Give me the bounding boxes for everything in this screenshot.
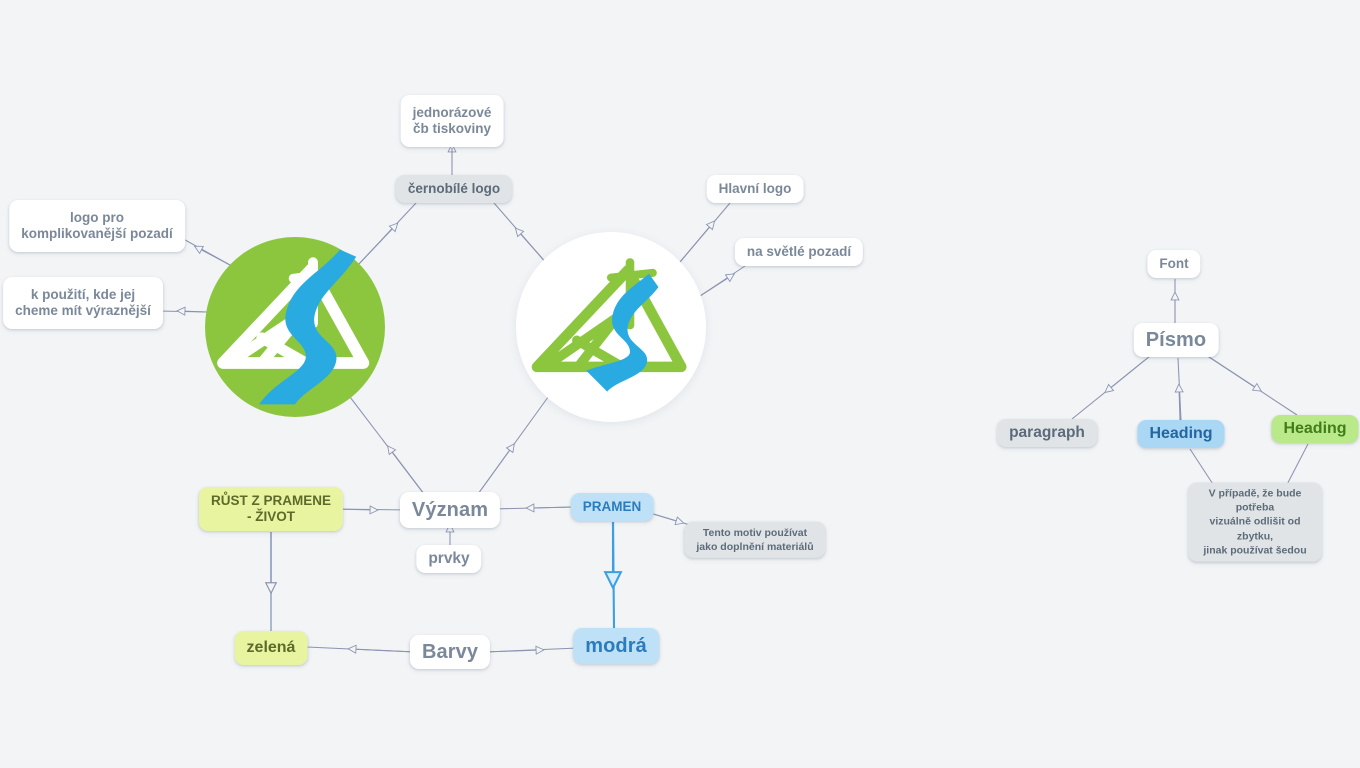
node-prvky[interactable]: prvky	[416, 545, 481, 573]
node-barvy[interactable]: Barvy	[410, 635, 490, 669]
edge-pismo-heading-blue-head	[1179, 388, 1180, 420]
node-zelena[interactable]: zelená	[235, 631, 308, 665]
node-font[interactable]: Font	[1147, 250, 1200, 278]
edge-whitelogo-vyznam-head	[478, 447, 512, 494]
node-tento-motiv-pouzivat[interactable]: Tento motiv používat jako doplnění mater…	[684, 522, 825, 558]
node-hlavni-logo[interactable]: Hlavní logo	[707, 175, 804, 203]
node-paragraph[interactable]: paragraph	[997, 419, 1097, 447]
node-na-svetle-pozadi[interactable]: na světlé pozadí	[735, 238, 863, 266]
edge-pramen-vyznam	[491, 507, 574, 509]
edge-pismo-paragraph-head	[1108, 356, 1150, 390]
node-cernobile-logo[interactable]: černobílé logo	[396, 175, 512, 203]
node-logo-pro-komplikovanejsi-pozadi[interactable]: logo pro komplikovanější pozadí	[9, 200, 185, 252]
logo-mark-green	[205, 237, 385, 417]
node-pismo[interactable]: Písmo	[1134, 323, 1219, 357]
logo-green-circle[interactable]	[205, 237, 385, 417]
node-heading-green[interactable]: Heading	[1271, 415, 1358, 443]
edge-greenlogo-vyznam-head	[390, 449, 424, 494]
edge-greenlogo-kpouziti-head	[181, 311, 207, 312]
node-modra[interactable]: modrá	[573, 628, 659, 664]
logo-white-circle[interactable]	[516, 232, 706, 422]
edge-whitelogo-nasvetle	[700, 266, 745, 296]
edge-barvy-zelena-head	[352, 649, 415, 652]
node-k-pouziti-vyraznejsi[interactable]: k použití, kde jej cheme mít výraznější	[3, 277, 163, 329]
node-rust-z-pramene-zivot[interactable]: RŮST Z PRAMENE - ŽIVOT	[199, 487, 343, 531]
node-jednorazove-cb-tiskoviny[interactable]: jednorázové čb tiskoviny	[401, 95, 504, 147]
node-pramen[interactable]: PRAMEN	[571, 493, 654, 521]
mindmap-canvas: jednorázové čb tiskoviny černobílé logo …	[0, 0, 1360, 768]
edge-rust-vyznam	[333, 509, 410, 510]
edge-pismo-heading-green	[1206, 355, 1297, 415]
edge-pramen-vyznam-head	[530, 507, 574, 508]
edge-pismo-paragraph	[1072, 356, 1150, 419]
node-heading-blue[interactable]: Heading	[1137, 420, 1224, 448]
logo-mark-white	[516, 232, 706, 422]
edge-pismo-heading-blue	[1178, 358, 1181, 420]
edge-greenlogo-kpouziti	[158, 311, 207, 312]
edge-pramen-tentomotiv-head	[650, 513, 680, 522]
node-v-pripade-potreba[interactable]: V případě, že bude potřeba vizuálně odli…	[1188, 483, 1322, 562]
edge-pramen-modra	[613, 522, 614, 628]
edge-pismo-heading-green-head	[1206, 355, 1258, 389]
mountain-cross-mark	[537, 262, 681, 367]
node-vyznam[interactable]: Význam	[400, 492, 500, 528]
edge-barvy-zelena	[307, 647, 415, 652]
edge-barvy-modra-head	[485, 650, 540, 652]
edge-barvy-modra	[485, 648, 578, 652]
